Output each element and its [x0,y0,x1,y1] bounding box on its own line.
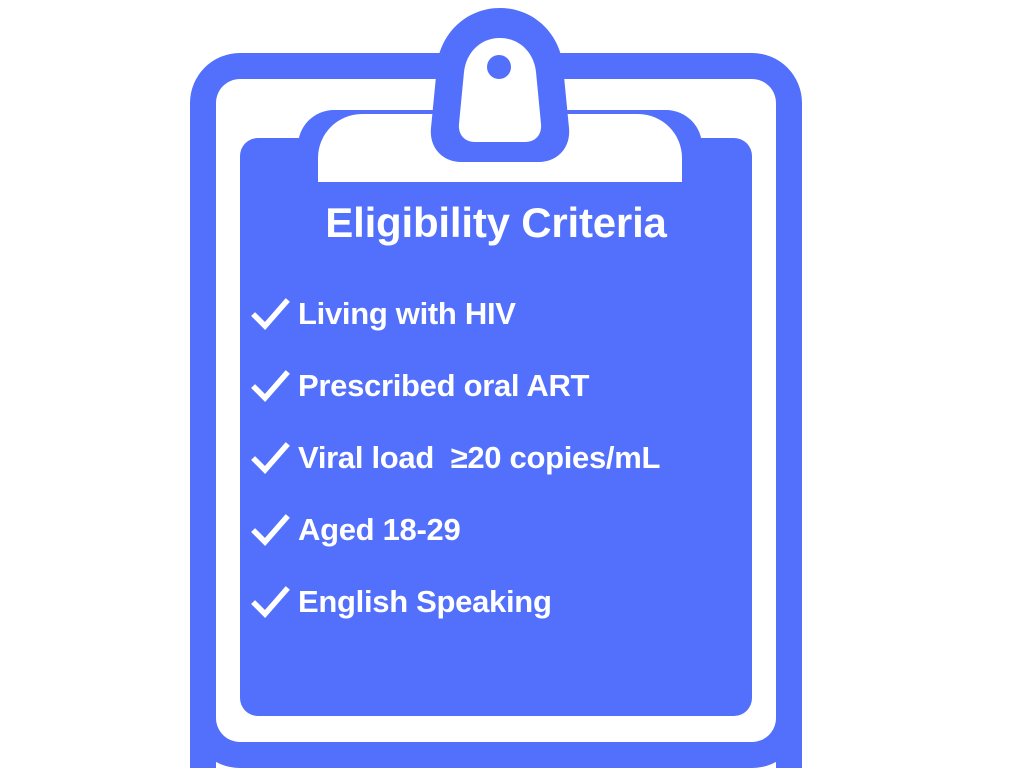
clipboard-clip-hole-icon [487,55,511,79]
criteria-item-label: Living with HIV [298,296,516,332]
check-icon [248,292,292,336]
criteria-item-label: Prescribed oral ART [298,368,589,404]
check-icon [248,364,292,408]
list-item: Living with HIV [248,278,748,350]
list-item: English Speaking [248,566,748,638]
check-icon [248,436,292,480]
list-item: Viral load ≥20 copies/mL [248,422,748,494]
page-title: Eligibility Criteria [240,200,752,246]
list-item: Aged 18-29 [248,494,748,566]
slide-canvas: Eligibility Criteria Living with HIV Pre… [0,0,1024,768]
criteria-list: Living with HIV Prescribed oral ART Vira… [248,278,748,638]
criteria-item-label: Aged 18-29 [298,512,460,548]
check-icon [248,508,292,552]
list-item: Prescribed oral ART [248,350,748,422]
clipboard-clip-head-inner [459,38,541,142]
criteria-item-label: Viral load ≥20 copies/mL [298,440,660,476]
criteria-card: Eligibility Criteria Living with HIV Pre… [240,138,752,716]
check-icon [248,580,292,624]
criteria-item-label: English Speaking [298,584,552,620]
